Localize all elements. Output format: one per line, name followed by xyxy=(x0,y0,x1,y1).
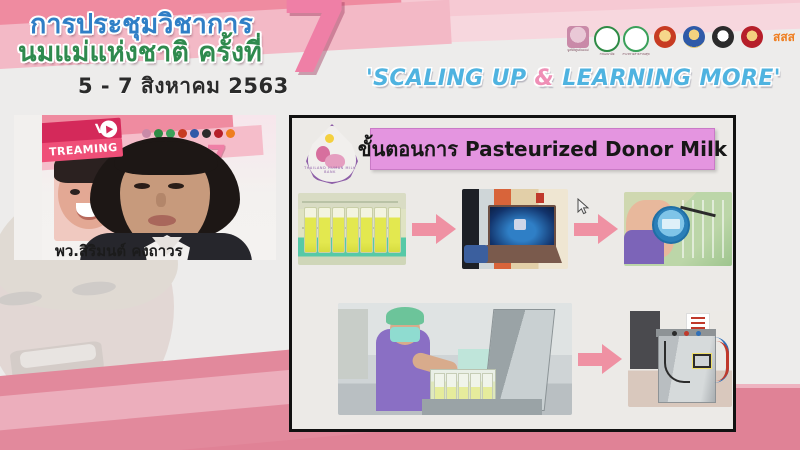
slogan-part-1: 'SCALING UP xyxy=(366,66,535,91)
process-row-2 xyxy=(338,300,698,418)
photo-temperature-probe xyxy=(624,192,732,266)
arrow-2 xyxy=(574,214,618,244)
mouse-cursor xyxy=(577,198,591,216)
logo-caption: THAILAND HUMAN MILK BANK xyxy=(300,166,360,184)
logo-caption: กรมอนามัย xyxy=(600,52,615,56)
photo-laptop-workstation xyxy=(462,189,568,269)
slide-title-banner: ขั้นตอนการ Pasteurized Donor Milk xyxy=(370,128,715,170)
sss-logo-text: สสส xyxy=(773,31,795,43)
conference-title-line2: นมแม่แห่งชาติ ครั้งที่ xyxy=(18,30,298,73)
live-badge-bottom: TREAMING xyxy=(42,138,123,164)
streaming-label: TREAMING xyxy=(49,141,118,159)
royal-emblem-logo: มูลนิธิศูนย์นมแม่ xyxy=(566,26,590,56)
green-ring-logo: กรมอนามัย xyxy=(595,26,619,56)
logo-caption: กระทรวงสาธารณสุข xyxy=(622,52,649,56)
conference-date: 5 - 7 สิงหาคม 2563 xyxy=(78,70,289,103)
orange-temple-logo xyxy=(653,26,677,56)
slogan-ampersand: & xyxy=(535,66,555,91)
slide-stage: 7 การประชุมวิชาการ นมแม่แห่งชาติ ครั้งที… xyxy=(0,0,800,450)
logo-caption: มูลนิธิศูนย์นมแม่ xyxy=(567,48,588,52)
process-row-1 xyxy=(298,190,730,268)
slogan-part-2: LEARNING MORE' xyxy=(554,66,781,91)
blue-crest-logo xyxy=(682,26,706,56)
photo-pasteurizer-machine xyxy=(628,311,732,407)
speaker-name: พว.สิริมนต์ คงถาวร xyxy=(55,239,275,263)
arrow-3 xyxy=(578,344,622,374)
black-circle-logo xyxy=(711,26,735,56)
presentation-slide: THAILAND HUMAN MILK BANK ขั้นตอนการ Past… xyxy=(289,115,736,432)
green-medical-logo: กระทรวงสาธารณสุข xyxy=(624,26,648,56)
arrow-1 xyxy=(412,214,456,244)
photo-milk-bottles-rack xyxy=(298,193,406,265)
sss-logo: สสส xyxy=(769,26,799,56)
slide-title-text: ขั้นตอนการ Pasteurized Donor Milk xyxy=(358,133,727,165)
red-crest-logo xyxy=(740,26,764,56)
conference-slogan: 'SCALING UP & LEARNING MORE' xyxy=(366,66,781,91)
human-milk-bank-logo: THAILAND HUMAN MILK BANK xyxy=(300,122,362,186)
live-streaming-badge: VE TREAMING xyxy=(42,118,123,167)
drop-highlight-icon xyxy=(325,134,334,143)
conference-header: 7 การประชุมวิชาการ นมแม่แห่งชาติ ครั้งที… xyxy=(0,0,800,104)
photo-nurse-loading-bottles xyxy=(338,303,572,415)
sponsor-logos: มูลนิธิศูนย์นมแม่ กรมอนามัย กระทรวงสาธาร… xyxy=(566,26,799,56)
